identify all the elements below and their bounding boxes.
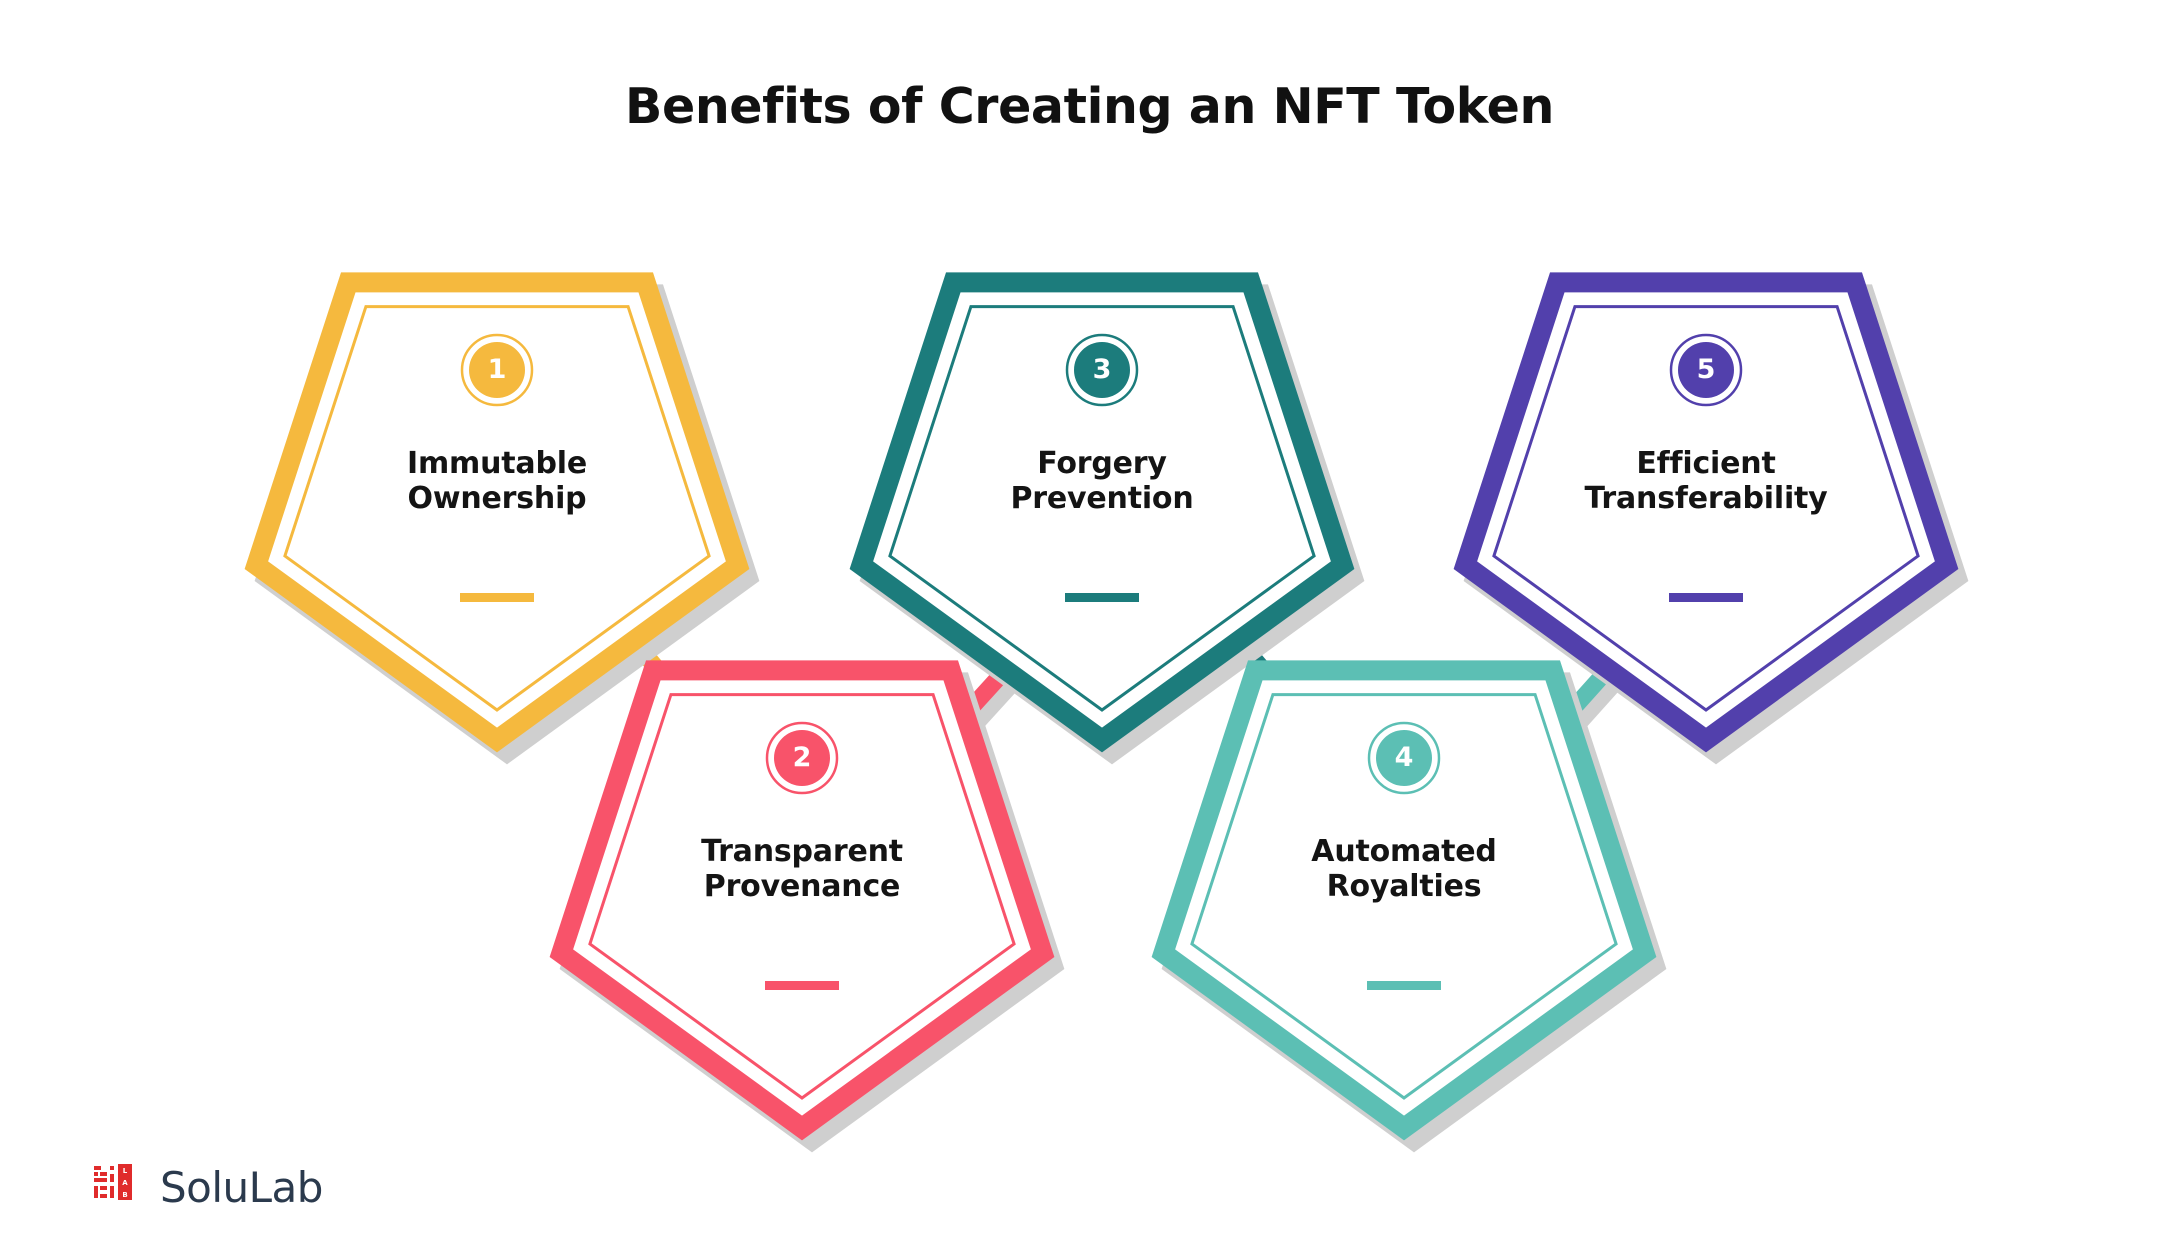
logo-pixel (94, 1166, 101, 1170)
benefit-label-5: Efficient Transferability (1476, 447, 1936, 517)
solulab-wordmark: SoluLab (160, 1163, 323, 1212)
infographic-canvas: Benefits of Creating an NFT Token Immuta… (0, 0, 2179, 1256)
logo-pixel (100, 1186, 107, 1190)
benefit-number-4: 4 (1364, 744, 1444, 771)
benefit-label-3: Forgery Prevention (872, 447, 1332, 517)
benefit-label-4: Automated Royalties (1174, 835, 1634, 905)
benefit-number-1: 1 (457, 356, 537, 383)
logo-lab-b: B (122, 1191, 127, 1199)
immutable-ownership-accent-dash (460, 593, 534, 602)
benefit-text-1: Immutable Ownership (267, 447, 727, 517)
transparent-provenance-accent-dash (765, 981, 839, 990)
logo-pixel (94, 1186, 98, 1198)
benefit-number-3: 3 (1062, 356, 1142, 383)
logo-pixel (110, 1186, 114, 1198)
logo-pixel (110, 1166, 114, 1170)
logo-lab-l: L (123, 1167, 128, 1175)
benefit-text-3: Forgery Prevention (872, 447, 1332, 517)
solulab-logo[interactable]: LAB SoluLab (92, 1160, 323, 1214)
benefit-number-2: 2 (762, 744, 842, 771)
efficient-transferability-accent-dash (1669, 593, 1743, 602)
benefit-number-5: 5 (1666, 356, 1746, 383)
solulab-mark-icon: LAB (92, 1160, 146, 1214)
logo-lab-a: A (122, 1179, 128, 1187)
benefit-label-2: Transparent Provenance (572, 835, 1032, 905)
benefit-text-4: Automated Royalties (1174, 835, 1634, 905)
logo-pixel (100, 1194, 107, 1198)
logo-pixel (100, 1172, 107, 1176)
logo-pixel (94, 1172, 98, 1176)
logo-pixel (94, 1178, 107, 1182)
benefit-text-5: Efficient Transferability (1476, 447, 1936, 517)
pentagon-diagram (0, 0, 2179, 1256)
benefit-text-2: Transparent Provenance (572, 835, 1032, 905)
logo-pixel (110, 1174, 114, 1182)
benefit-label-1: Immutable Ownership (267, 447, 727, 517)
forgery-prevention-accent-dash (1065, 593, 1139, 602)
automated-royalties-accent-dash (1367, 981, 1441, 990)
